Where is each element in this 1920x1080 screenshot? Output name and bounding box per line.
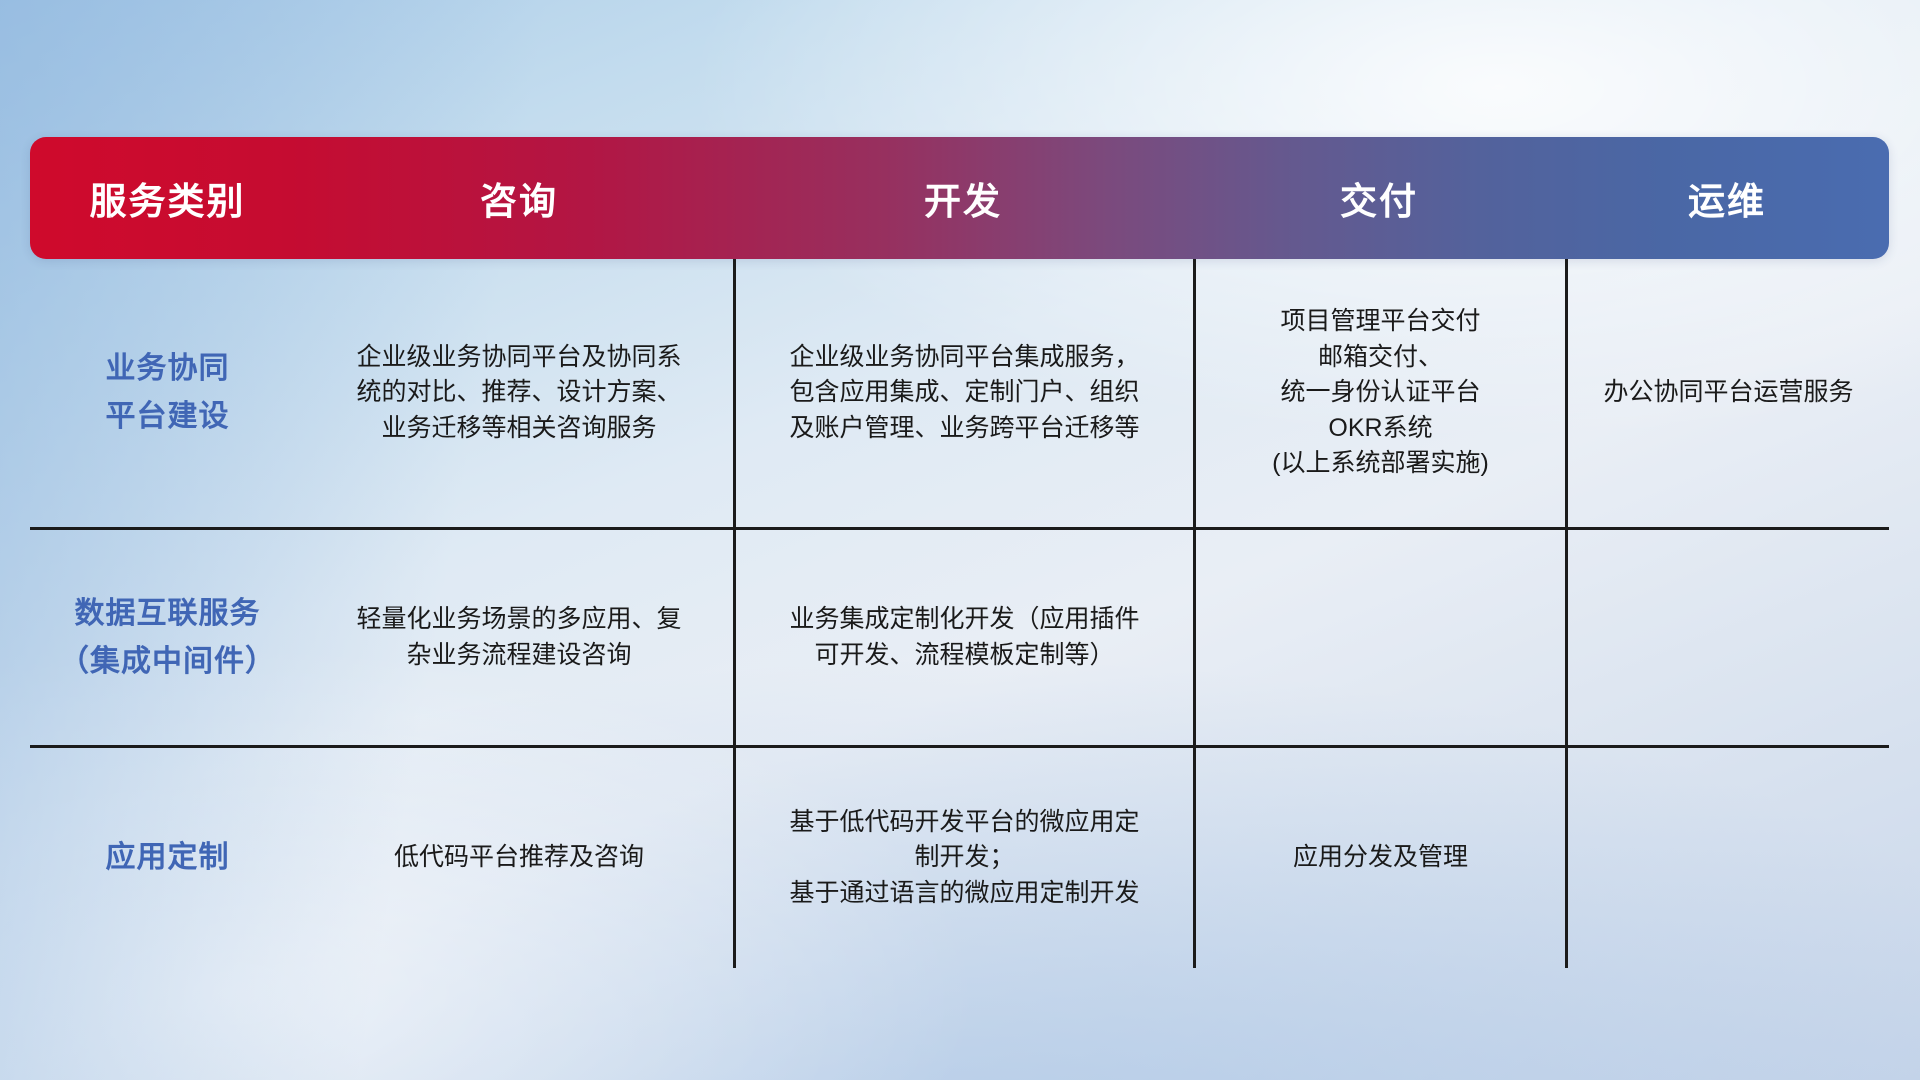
cell-operations [1565,530,1889,745]
cell-category: 应用定制 [30,748,305,968]
cell-delivery: 项目管理平台交付 邮箱交付、 统一身份认证平台 OKR系统 (以上系统部署实施) [1193,259,1565,527]
table-row: 应用定制 低代码平台推荐及咨询 基于低代码开发平台的微应用定 制开发； 基于通过… [30,745,1889,968]
table-row: 数据互联服务 （集成中间件） 轻量化业务场景的多应用、复 杂业务流程建设咨询 业… [30,527,1889,745]
cell-delivery: 应用分发及管理 [1193,748,1565,968]
cell-category: 业务协同 平台建设 [30,259,305,527]
column-header-development-label: 开发 [924,171,1002,225]
column-header-development: 开发 [733,171,1193,225]
table-body: 业务协同 平台建设 企业级业务协同平台及协同系 统的对比、推荐、设计方案、 业务… [30,259,1889,968]
cell-consulting: 低代码平台推荐及咨询 [305,748,733,968]
column-header-delivery-label: 交付 [1340,171,1418,225]
column-header-delivery: 交付 [1193,171,1565,225]
cell-category: 数据互联服务 （集成中间件） [30,530,305,745]
cell-operations [1565,748,1889,968]
column-header-operations: 运维 [1565,171,1889,225]
service-matrix-table: 服务类别 咨询 开发 交付 运维 业务协同 平台建设 企业级业务协同平台及协同系… [30,137,1889,962]
cell-operations: 办公协同平台运营服务 [1565,259,1889,527]
column-header-consulting-label: 咨询 [480,171,558,225]
cell-consulting: 企业级业务协同平台及协同系 统的对比、推荐、设计方案、 业务迁移等相关咨询服务 [305,259,733,527]
cell-consulting: 轻量化业务场景的多应用、复 杂业务流程建设咨询 [305,530,733,745]
table-row: 业务协同 平台建设 企业级业务协同平台及协同系 统的对比、推荐、设计方案、 业务… [30,259,1889,527]
cell-development: 业务集成定制化开发（应用插件 可开发、流程模板定制等） [733,530,1193,745]
column-header-operations-label: 运维 [1688,171,1766,225]
cell-delivery [1193,530,1565,745]
column-header-consulting: 咨询 [305,171,733,225]
cell-development: 企业级业务协同平台集成服务， 包含应用集成、定制门户、组织 及账户管理、业务跨平… [733,259,1193,527]
cell-development: 基于低代码开发平台的微应用定 制开发； 基于通过语言的微应用定制开发 [733,748,1193,968]
column-header-category-label: 服务类别 [90,171,246,225]
column-header-category: 服务类别 [30,171,305,225]
table-header-row: 服务类别 咨询 开发 交付 运维 [30,137,1889,259]
